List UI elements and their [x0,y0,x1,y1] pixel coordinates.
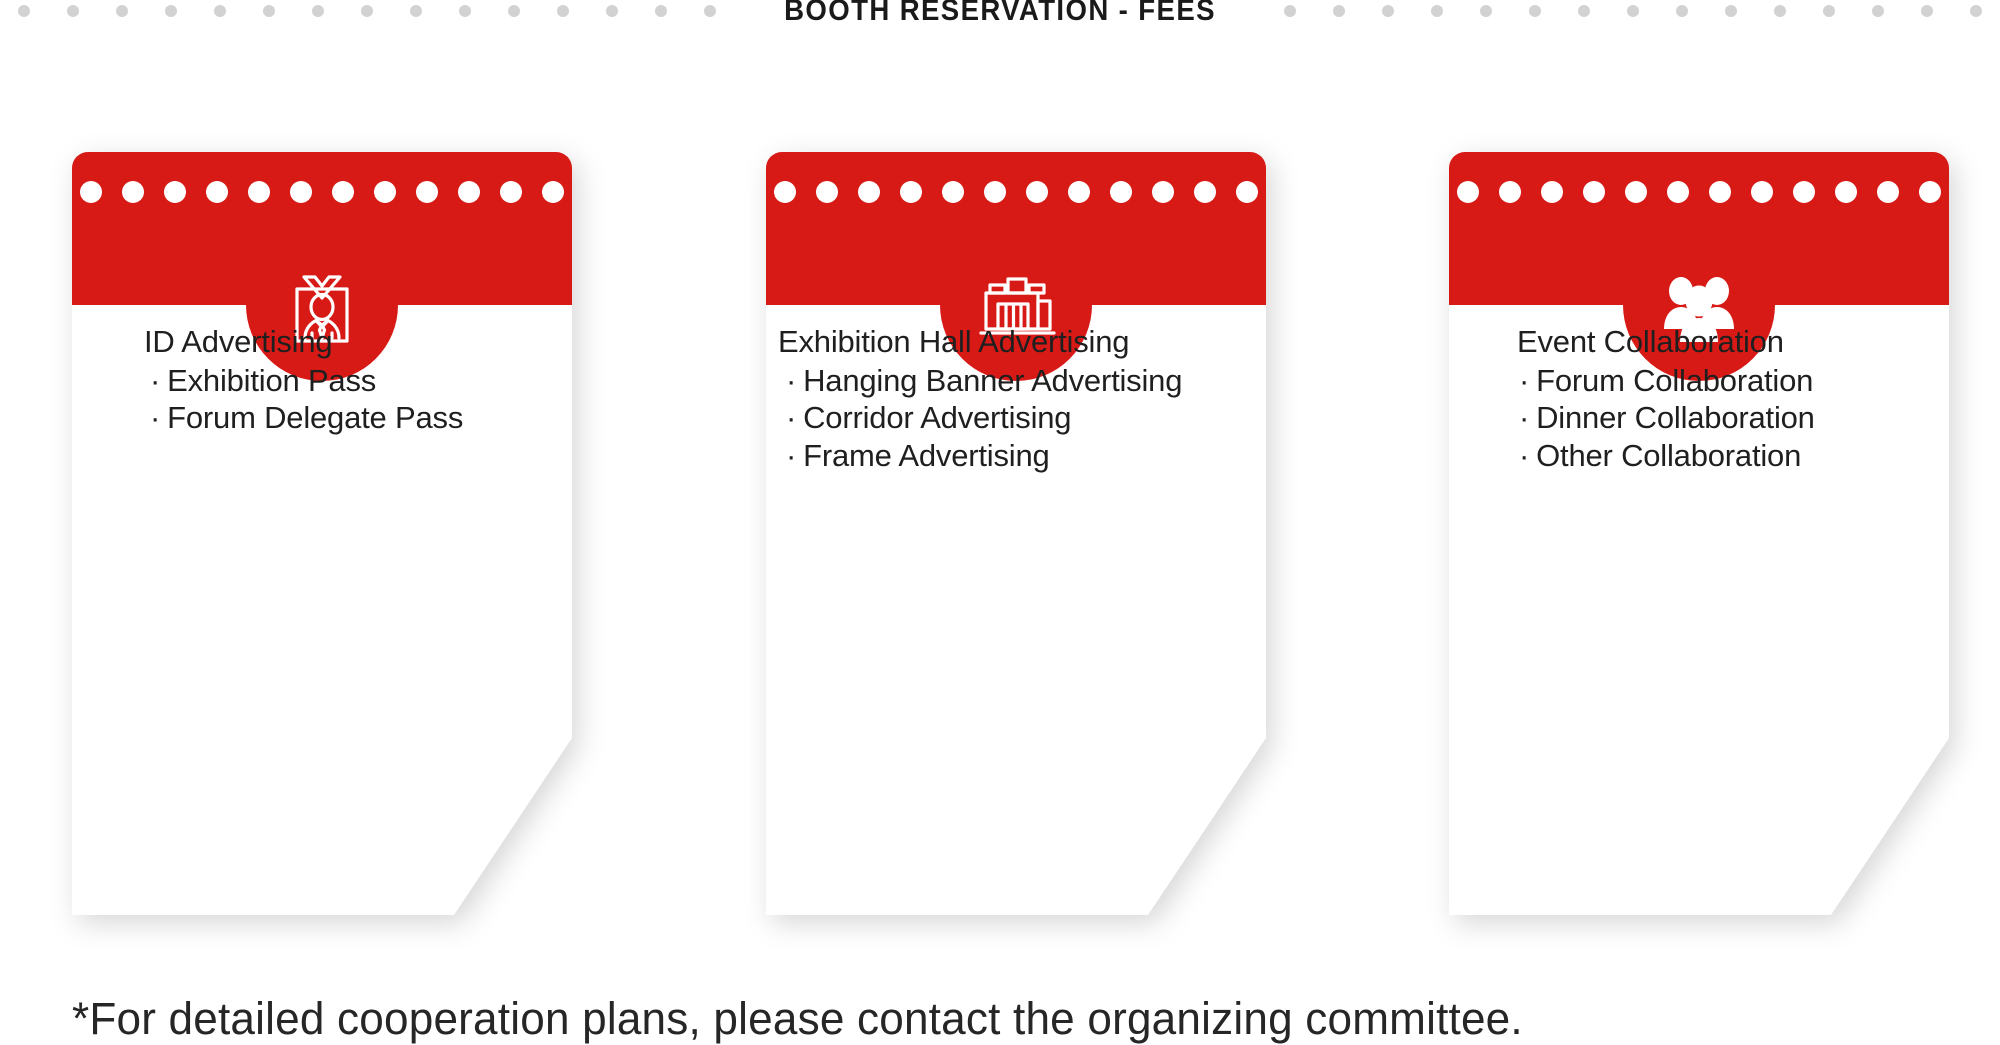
bullet-icon: · [786,400,796,435]
bullet-icon: · [150,363,160,398]
binding-hole [248,181,270,203]
fee-category-cards: ID Advertising ·Exhibition Pass ·Forum D… [0,0,2000,1043]
binding-hole [984,181,1006,203]
binding-hole [1793,181,1815,203]
bullet-icon: · [786,363,796,398]
page-fold-corner [454,738,572,915]
binding-holes [72,181,572,203]
binding-hole [1068,181,1090,203]
card-title: ID Advertising [144,322,572,362]
card-body: Exhibition Hall Advertising ·Hanging Ban… [766,322,1266,474]
card-item-list: ·Hanging Banner Advertising ·Corridor Ad… [778,362,1266,475]
bullet-icon: · [150,400,160,435]
list-item-label: Exhibition Pass [167,363,376,398]
binding-hole [942,181,964,203]
binding-hole [1625,181,1647,203]
card-item-list: ·Exhibition Pass ·Forum Delegate Pass [144,362,572,437]
bullet-icon: · [1519,400,1529,435]
binding-hole [374,181,396,203]
bullet-icon: · [786,438,796,473]
list-item-label: Forum Collaboration [1536,363,1813,398]
binding-hole [542,181,564,203]
binding-hole [1236,181,1258,203]
binding-hole [1919,181,1941,203]
binding-hole [1877,181,1899,203]
binding-hole [1667,181,1689,203]
card-body: Event Collaboration ·Forum Collaboration… [1449,322,1949,474]
binding-hole [500,181,522,203]
page-fold-corner [1831,738,1949,915]
binding-hole [1583,181,1605,203]
binding-hole [774,181,796,203]
list-item: ·Forum Collaboration [1519,362,1949,400]
binding-hole [900,181,922,203]
binding-hole [290,181,312,203]
binding-hole [1751,181,1773,203]
footnote-text: *For detailed cooperation plans, please … [72,993,1523,1045]
binding-hole [1457,181,1479,203]
binding-hole [1194,181,1216,203]
bullet-icon: · [1519,438,1529,473]
binding-hole [858,181,880,203]
list-item-label: Forum Delegate Pass [167,400,463,435]
page-fold-corner [1148,738,1266,915]
card-title: Event Collaboration [1517,322,1949,362]
card-item-list: ·Forum Collaboration ·Dinner Collaborati… [1517,362,1949,475]
list-item-label: Corridor Advertising [803,400,1071,435]
list-item-label: Dinner Collaboration [1536,400,1815,435]
list-item: ·Hanging Banner Advertising [786,362,1266,400]
list-item: ·Forum Delegate Pass [150,399,572,437]
binding-hole [416,181,438,203]
list-item-label: Frame Advertising [803,438,1049,473]
binding-hole [122,181,144,203]
binding-hole [332,181,354,203]
fee-card-exhibition-hall-advertising[interactable]: Exhibition Hall Advertising ·Hanging Ban… [766,152,1266,915]
binding-holes [1449,181,1949,203]
binding-hole [1152,181,1174,203]
binding-hole [164,181,186,203]
list-item: ·Dinner Collaboration [1519,399,1949,437]
card-body: ID Advertising ·Exhibition Pass ·Forum D… [72,322,572,437]
binding-hole [1709,181,1731,203]
fee-card-event-collaboration[interactable]: Event Collaboration ·Forum Collaboration… [1449,152,1949,915]
binding-hole [80,181,102,203]
binding-hole [1110,181,1132,203]
binding-hole [1499,181,1521,203]
list-item: ·Exhibition Pass [150,362,572,400]
binding-holes [766,181,1266,203]
list-item: ·Frame Advertising [786,437,1266,475]
list-item: ·Corridor Advertising [786,399,1266,437]
binding-hole [1835,181,1857,203]
fee-card-id-advertising[interactable]: ID Advertising ·Exhibition Pass ·Forum D… [72,152,572,915]
binding-hole [816,181,838,203]
binding-hole [206,181,228,203]
list-item-label: Hanging Banner Advertising [803,363,1182,398]
binding-hole [1541,181,1563,203]
binding-hole [458,181,480,203]
list-item: ·Other Collaboration [1519,437,1949,475]
bullet-icon: · [1519,363,1529,398]
list-item-label: Other Collaboration [1536,438,1801,473]
binding-hole [1026,181,1048,203]
card-title: Exhibition Hall Advertising [778,322,1266,362]
